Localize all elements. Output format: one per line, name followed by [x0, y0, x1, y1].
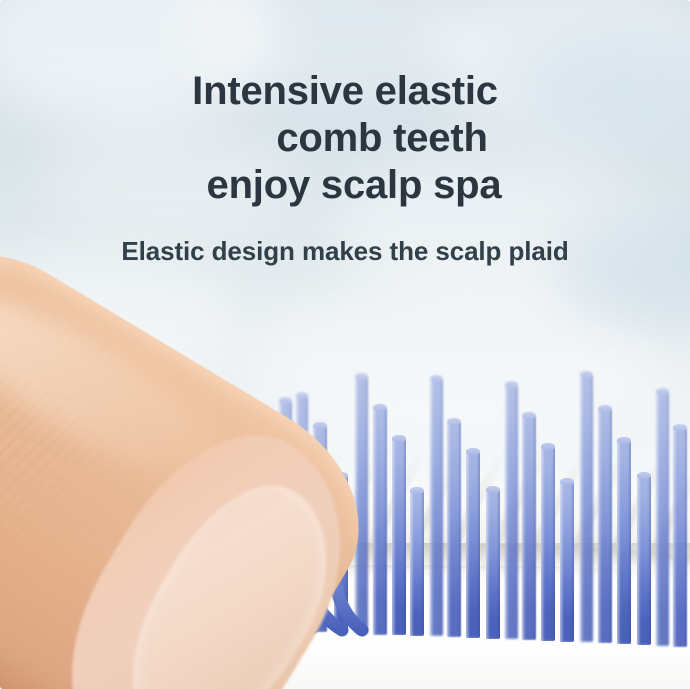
cloud-wisp: [250, 280, 670, 440]
text-overlay: Intensive elastic comb teeth enjoy scalp…: [0, 0, 690, 266]
headline-line-2: comb teeth: [74, 115, 690, 162]
headline-line-3: enjoy scalp spa: [18, 162, 690, 209]
subheadline: Elastic design makes the scalp plaid: [0, 209, 690, 266]
headline: Intensive elastic comb teeth enjoy scalp…: [0, 0, 690, 209]
product-banner: Intensive elastic comb teeth enjoy scalp…: [0, 0, 690, 689]
headline-line-1: Intensive elastic: [0, 68, 690, 115]
